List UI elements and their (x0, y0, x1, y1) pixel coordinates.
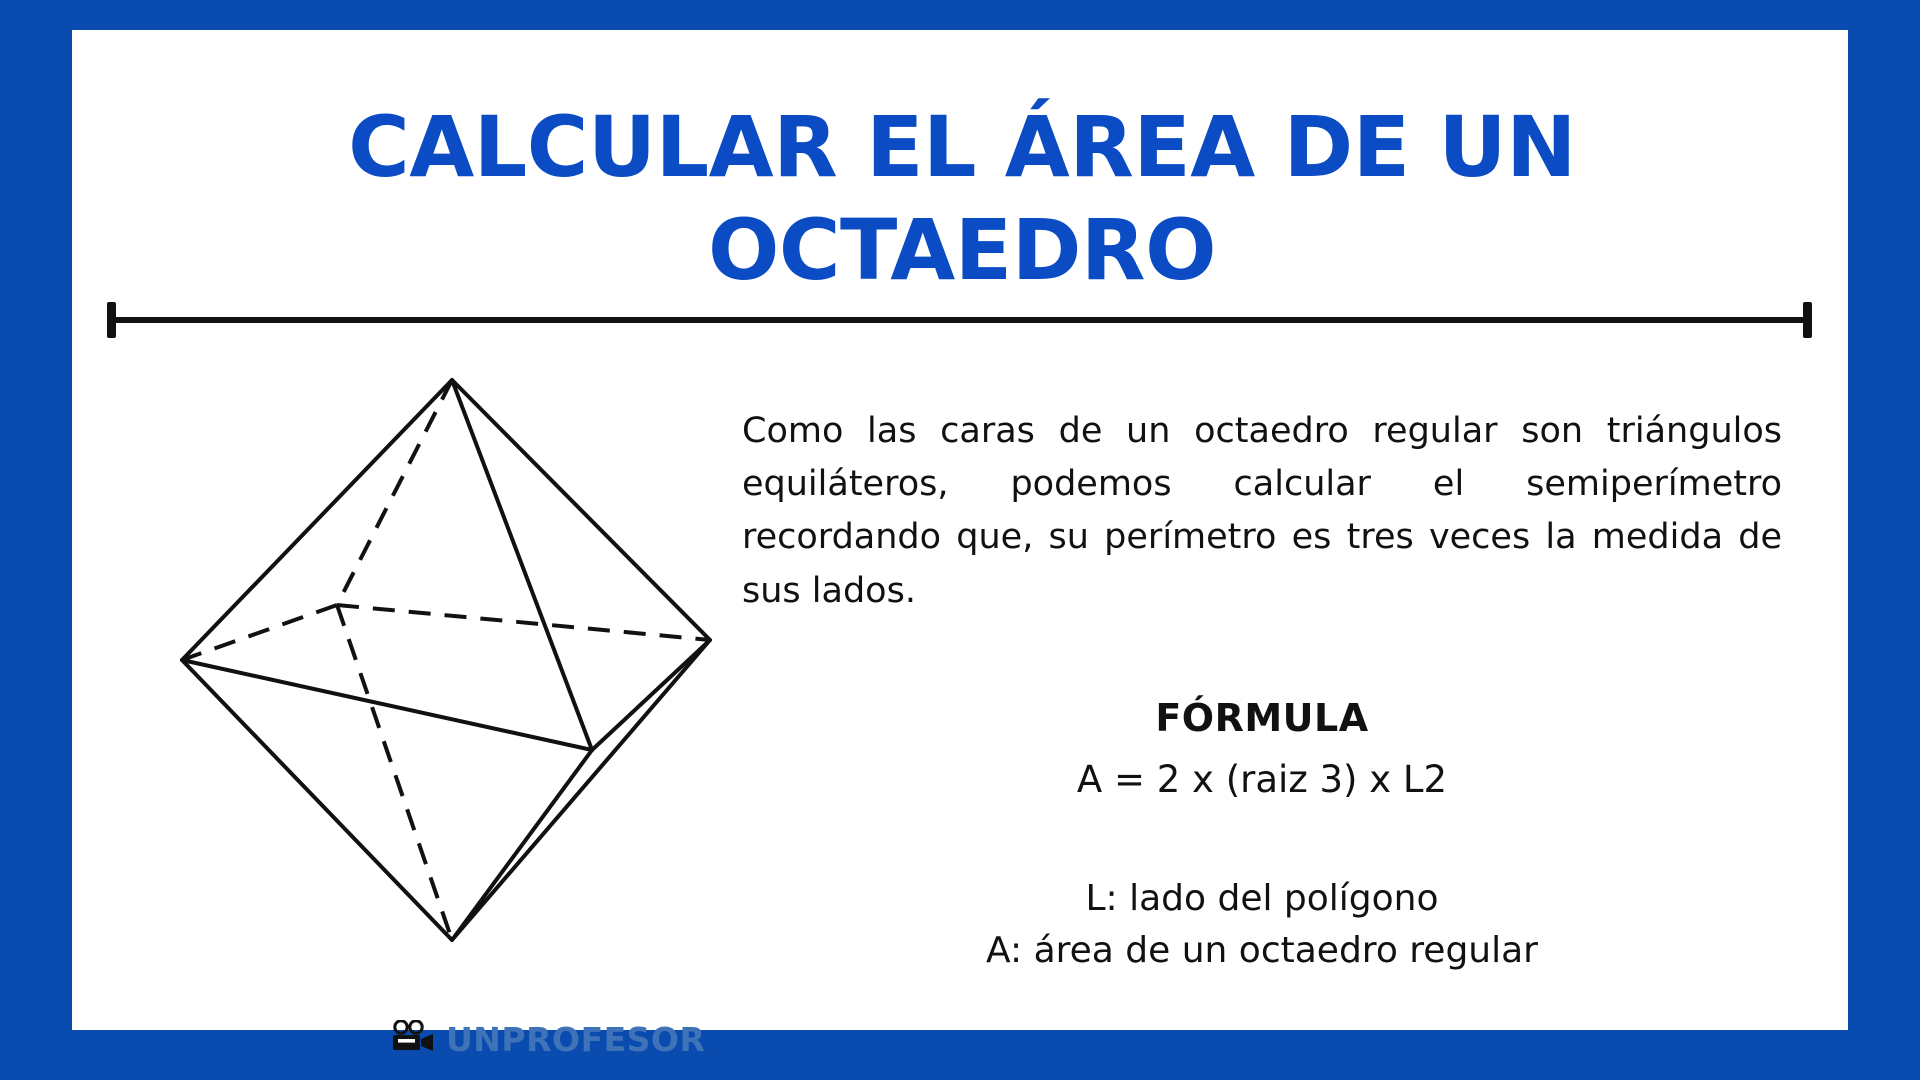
octahedron-edge-bottom-front (452, 750, 592, 940)
unprofesor-logo: UNPROFESOR (390, 1020, 705, 1059)
legend-block: L: lado del polígono A: área de un octae… (742, 873, 1782, 977)
octahedron-edge-front-left (182, 660, 592, 750)
octahedron-svg (162, 360, 722, 960)
explanation-column: Como las caras de un octaedro regular so… (742, 370, 1782, 977)
octahedron-outline (182, 380, 710, 940)
octahedron-hidden-back-left (182, 605, 337, 660)
rule-bar (107, 317, 1812, 323)
logo-wordmark: UNPROFESOR (446, 1020, 705, 1059)
legend-line-side: L: lado del polígono (742, 873, 1782, 925)
measurement-rule (107, 302, 1812, 336)
octahedron-edge-front-right (592, 640, 710, 750)
octahedron-hidden-back-right (337, 605, 710, 640)
octahedron-hidden-top-back (337, 380, 452, 605)
video-camera-icon (390, 1020, 436, 1059)
formula-expression: A = 2 x (raiz 3) x L2 (742, 758, 1782, 801)
octahedron-hidden-bottom-back (337, 605, 452, 940)
content-card: CALCULAR EL ÁREA DE UN OCTAEDRO (72, 30, 1848, 1030)
rule-cap-right (1803, 302, 1812, 338)
formula-heading: FÓRMULA (742, 696, 1782, 740)
explanation-paragraph: Como las caras de un octaedro regular so… (742, 405, 1782, 618)
page-title: CALCULAR EL ÁREA DE UN OCTAEDRO (192, 96, 1732, 301)
legend-line-area: A: área de un octaedro regular (742, 925, 1782, 977)
octahedron-diagram (162, 360, 722, 960)
slide-frame: CALCULAR EL ÁREA DE UN OCTAEDRO (0, 0, 1920, 1080)
octahedron-edge-top-front (452, 380, 592, 750)
formula-block: FÓRMULA A = 2 x (raiz 3) x L2 (742, 696, 1782, 801)
